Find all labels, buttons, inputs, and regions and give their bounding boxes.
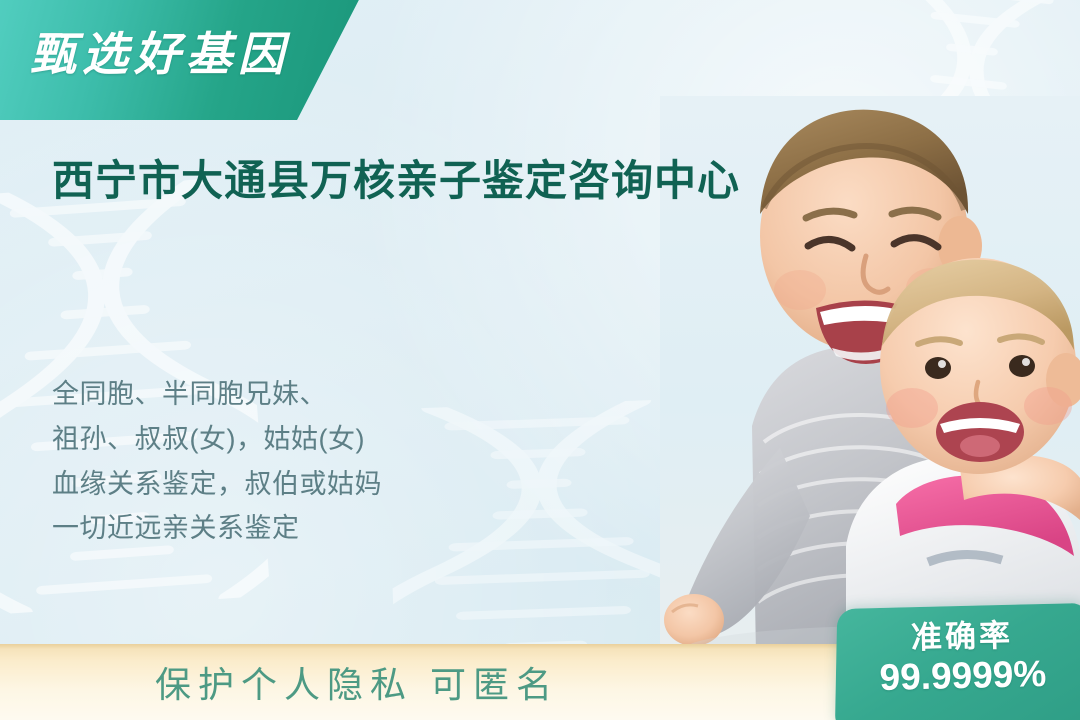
description-line-2: 祖孙、叔叔(女)，姑姑(女) [52, 417, 572, 462]
description-line-3: 血缘关系鉴定，叔伯或姑妈 [52, 462, 572, 507]
accuracy-badge-inner: 准确率 99.9999% [835, 603, 1080, 700]
service-description: 全同胞、半同胞兄妹、 祖孙、叔叔(女)，姑姑(女) 血缘关系鉴定，叔伯或姑妈 一… [52, 372, 572, 551]
promo-banner: 甄选好基因 西宁市大通县万核亲子鉴定咨询中心 全同胞、半同胞兄妹、 祖孙、叔叔(… [0, 0, 1080, 720]
logo-text: 甄选好基因 [30, 18, 290, 84]
privacy-text: 保护个人隐私 可匿名 [155, 656, 559, 708]
page-title: 西宁市大通县万核亲子鉴定咨询中心 [52, 152, 852, 210]
accuracy-value: 99.9999% [836, 652, 1080, 701]
description-line-4: 一切近远亲关系鉴定 [52, 506, 572, 551]
accuracy-label: 准确率 [836, 617, 1080, 658]
logo-banner: 甄选好基因 [0, 0, 364, 120]
accuracy-badge: 准确率 99.9999% [835, 603, 1080, 720]
description-line-1: 全同胞、半同胞兄妹、 [52, 372, 572, 417]
